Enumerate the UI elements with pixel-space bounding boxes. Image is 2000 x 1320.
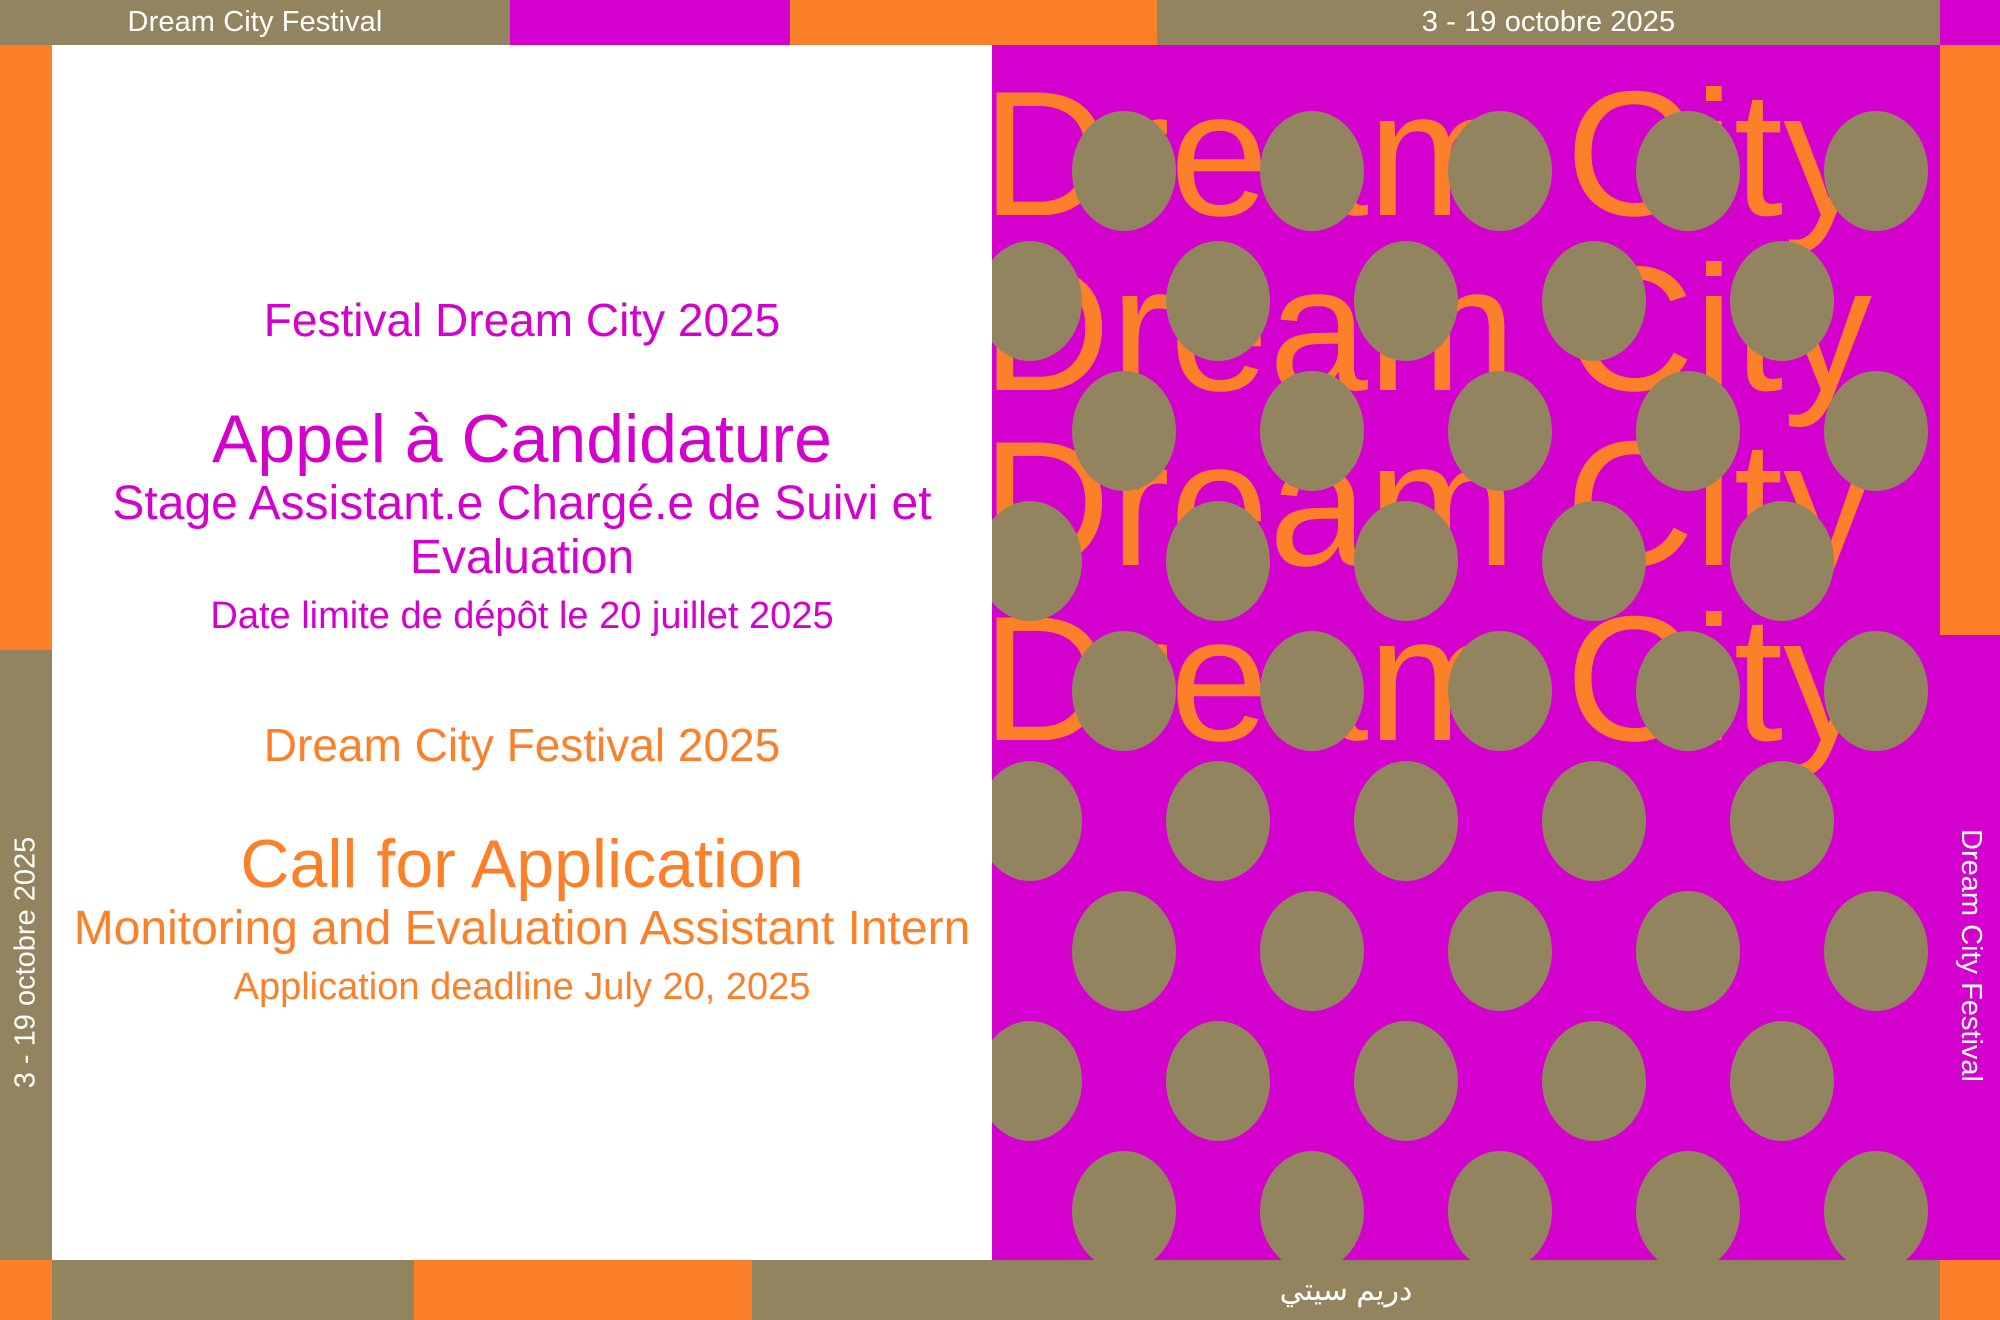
top-bar-festival-name-segment: Dream City Festival <box>0 0 510 45</box>
artwork-dot <box>1542 501 1646 621</box>
bottom-bar-olive-block-left <box>52 1260 414 1320</box>
artwork-dot <box>1824 1151 1928 1260</box>
artwork-dot <box>1636 111 1740 231</box>
artwork-dot <box>1636 891 1740 1011</box>
english-deadline: Application deadline July 20, 2025 <box>52 966 992 1010</box>
right-strip-festival-label: Dream City Festival <box>1940 635 2000 1275</box>
artwork-dot <box>1354 1021 1458 1141</box>
artwork-dot <box>1824 631 1928 751</box>
artwork-dot <box>1166 1021 1270 1141</box>
artwork-dot <box>1354 761 1458 881</box>
bottom-bar-arabic-segment: دريم سيتي <box>752 1260 1940 1320</box>
artwork-dot <box>992 241 1082 361</box>
artwork-dot <box>1824 111 1928 231</box>
top-bar-dates-segment: 3 - 19 octobre 2025 <box>1157 0 1940 45</box>
poster-canvas: Dream City Festival 3 - 19 octobre 2025 … <box>0 0 2000 1320</box>
announcement-text-panel: Festival Dream City 2025 Appel à Candida… <box>52 45 992 1260</box>
french-subhead: Stage Assistant.e Chargé.e de Suivi et E… <box>52 477 992 585</box>
artwork-dot <box>1354 241 1458 361</box>
artwork-dot <box>1824 371 1928 491</box>
bottom-bar-arabic-name: دريم سيتي <box>1280 1273 1413 1308</box>
top-bar-magenta-block <box>510 0 790 45</box>
artwork-dot <box>1636 1151 1740 1260</box>
english-block: Dream City Festival 2025 Call for Applic… <box>52 720 992 1009</box>
english-subhead: Monitoring and Evaluation Assistant Inte… <box>52 902 992 956</box>
artwork-dot <box>1542 761 1646 881</box>
top-bar-magenta-end-block <box>1940 0 2000 45</box>
artwork-dot <box>1260 1151 1364 1260</box>
left-strip-orange-block <box>0 45 52 650</box>
artwork-dot <box>1448 1151 1552 1260</box>
english-kicker: Dream City Festival 2025 <box>52 720 992 771</box>
top-bar-orange-block <box>790 0 1157 45</box>
top-bar-dates: 3 - 19 octobre 2025 <box>1422 6 1675 39</box>
left-strip-dates-label: 3 - 19 octobre 2025 <box>0 650 52 1275</box>
artwork-dot <box>992 501 1082 621</box>
artwork-dot <box>1072 1151 1176 1260</box>
artwork-dot <box>1824 891 1928 1011</box>
french-headline: Appel à Candidature <box>52 404 992 475</box>
artwork-dot <box>992 1021 1082 1141</box>
french-deadline: Date limite de dépôt le 20 juillet 2025 <box>52 595 992 639</box>
artwork-dot <box>1448 891 1552 1011</box>
bottom-bar-orange-start-block <box>0 1260 52 1320</box>
artwork-dot <box>1636 371 1740 491</box>
artwork-dot <box>1260 111 1364 231</box>
artwork-dot <box>1260 891 1364 1011</box>
poster-artwork-panel: Dream City Dream City Dream City Dream C… <box>992 45 1940 1260</box>
bottom-bar-orange-end-block <box>1940 1260 2000 1320</box>
right-vertical-strip: Dream City Festival <box>1940 45 2000 1275</box>
artwork-dot <box>1636 631 1740 751</box>
right-strip-orange-block <box>1940 45 2000 635</box>
french-kicker: Festival Dream City 2025 <box>52 295 992 346</box>
artwork-dot-overlay <box>992 45 1940 1260</box>
artwork-dot <box>1166 241 1270 361</box>
artwork-dot <box>1448 111 1552 231</box>
artwork-dot <box>1166 501 1270 621</box>
artwork-dot <box>1260 631 1364 751</box>
top-bar-festival-name: Dream City Festival <box>128 6 383 39</box>
artwork-dot <box>1260 371 1364 491</box>
right-strip-festival-text: Dream City Festival <box>1954 829 1987 1082</box>
artwork-dot <box>1448 371 1552 491</box>
artwork-dot <box>1166 761 1270 881</box>
left-vertical-strip: 3 - 19 octobre 2025 <box>0 45 52 1275</box>
artwork-dot <box>1730 241 1834 361</box>
left-strip-dates-text: 3 - 19 octobre 2025 <box>10 837 43 1089</box>
artwork-dot <box>1542 1021 1646 1141</box>
artwork-dot <box>992 761 1082 881</box>
top-bar: Dream City Festival 3 - 19 octobre 2025 <box>0 0 2000 45</box>
english-headline: Call for Application <box>52 829 992 900</box>
artwork-dot <box>1730 1021 1834 1141</box>
artwork-dot <box>1730 761 1834 881</box>
artwork-dot <box>1448 631 1552 751</box>
bottom-bar-orange-block <box>414 1260 752 1320</box>
artwork-dot <box>1542 241 1646 361</box>
artwork-dot <box>1072 631 1176 751</box>
artwork-dot <box>1354 501 1458 621</box>
artwork-dot <box>1730 501 1834 621</box>
bottom-bar: دريم سيتي <box>0 1260 2000 1320</box>
french-block: Festival Dream City 2025 Appel à Candida… <box>52 295 992 638</box>
artwork-dot <box>1072 371 1176 491</box>
artwork-dot <box>1072 891 1176 1011</box>
artwork-dot <box>1072 111 1176 231</box>
